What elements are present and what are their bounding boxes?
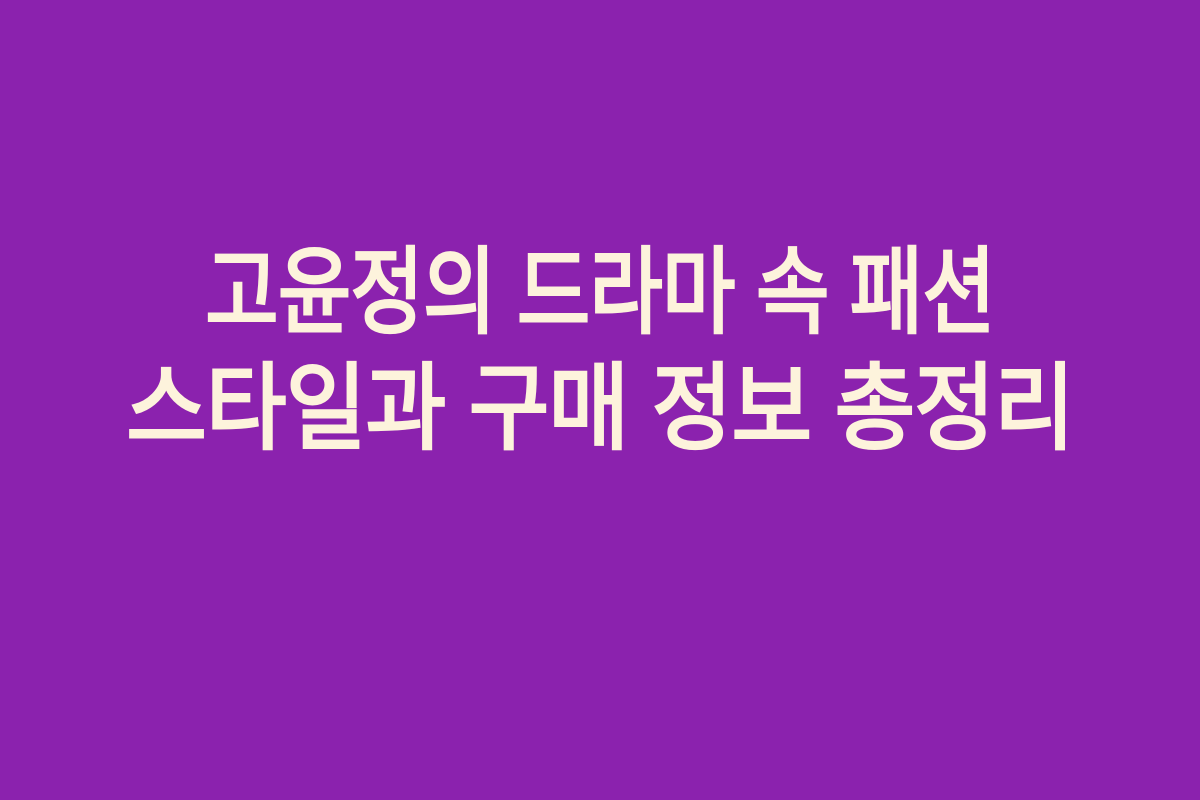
title-line-1: 고윤정의 드라마 속 패션 [95, 236, 1105, 352]
title-line-2: 스타일과 구매 정보 총정리 [45, 352, 1155, 468]
title-block: 고윤정의 드라마 속 패션 스타일과 구매 정보 총정리 [0, 0, 1200, 800]
thumbnail-card: 고윤정의 드라마 속 패션 스타일과 구매 정보 총정리 [0, 0, 1200, 800]
